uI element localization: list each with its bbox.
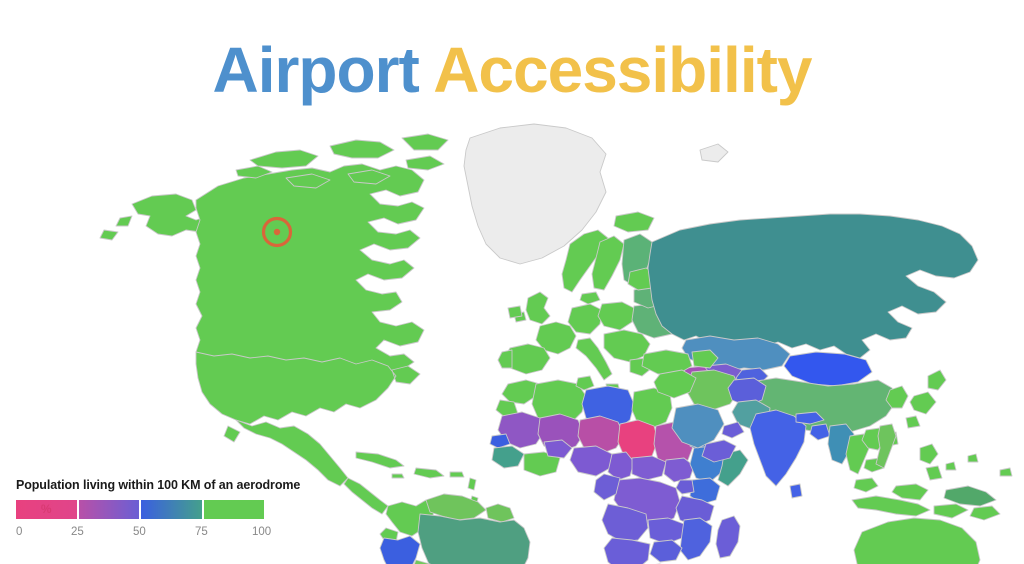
- country-portugal[interactable]: [498, 350, 512, 368]
- country-poland[interactable]: [598, 302, 634, 330]
- legend-unit-label: %: [16, 500, 77, 519]
- country-south-sudan[interactable]: [664, 458, 694, 482]
- legend-tick-labels: 0 25 50 75 100: [16, 525, 264, 540]
- country-mozambique[interactable]: [680, 518, 712, 560]
- country-nigeria[interactable]: [570, 446, 612, 476]
- country-pacific-islands[interactable]: [946, 454, 1012, 476]
- country-denmark[interactable]: [580, 292, 600, 304]
- legend-segment-50-75: [141, 500, 202, 519]
- country-philippines[interactable]: [920, 444, 942, 480]
- country-zimbabwe[interactable]: [650, 540, 682, 562]
- country-svalbard[interactable]: [700, 144, 728, 162]
- country-ireland[interactable]: [508, 306, 522, 318]
- page-title: Airport Accessibility: [0, 38, 1024, 102]
- country-japan[interactable]: [906, 370, 946, 428]
- country-senegal-gambia[interactable]: [490, 434, 510, 448]
- country-hispaniola[interactable]: [414, 468, 444, 478]
- legend-tick-0: 0: [16, 525, 22, 540]
- country-guyanas[interactable]: [486, 504, 514, 522]
- country-bangladesh[interactable]: [810, 424, 830, 440]
- page-title-primary: Airport: [212, 34, 418, 106]
- country-russia[interactable]: [648, 214, 978, 358]
- country-sri-lanka[interactable]: [790, 484, 802, 498]
- country-mexico[interactable]: [224, 420, 348, 486]
- country-australia[interactable]: [854, 518, 980, 564]
- country-canada[interactable]: [196, 164, 424, 372]
- country-madagascar[interactable]: [716, 516, 740, 558]
- legend-title: Population living within 100 KM of an ae…: [16, 478, 356, 493]
- country-iceland[interactable]: [614, 212, 654, 232]
- country-malaysia[interactable]: [854, 478, 928, 500]
- location-marker-dot: [274, 229, 280, 235]
- country-papua-new-guinea[interactable]: [944, 486, 996, 506]
- legend-segment-25-50: [79, 500, 140, 519]
- country-peru[interactable]: [380, 536, 420, 564]
- country-central-african-republic[interactable]: [632, 456, 666, 480]
- legend-tick-25: 25: [71, 525, 84, 540]
- airport-accessibility-infographic: Airport Accessibility: [0, 0, 1024, 564]
- country-guinea-sierraleone-liberia[interactable]: [492, 446, 524, 468]
- legend-color-bar: %: [16, 500, 264, 519]
- legend-segment-0-25: %: [16, 500, 77, 519]
- country-cuba[interactable]: [356, 452, 404, 468]
- country-puerto-rico[interactable]: [450, 472, 464, 477]
- country-germany[interactable]: [568, 304, 602, 334]
- page-title-secondary: Accessibility: [433, 34, 811, 106]
- country-jamaica[interactable]: [392, 474, 404, 478]
- legend-segment-75-100: [204, 500, 265, 519]
- legend-tick-100: 100: [252, 525, 271, 540]
- country-botswana-namibia[interactable]: [604, 538, 650, 564]
- legend-tick-50: 50: [133, 525, 146, 540]
- legend-tick-75: 75: [195, 525, 208, 540]
- country-brazil[interactable]: [418, 514, 530, 564]
- map-legend: Population living within 100 KM of an ae…: [16, 478, 356, 548]
- country-zambia[interactable]: [648, 518, 684, 544]
- country-uganda[interactable]: [676, 480, 694, 494]
